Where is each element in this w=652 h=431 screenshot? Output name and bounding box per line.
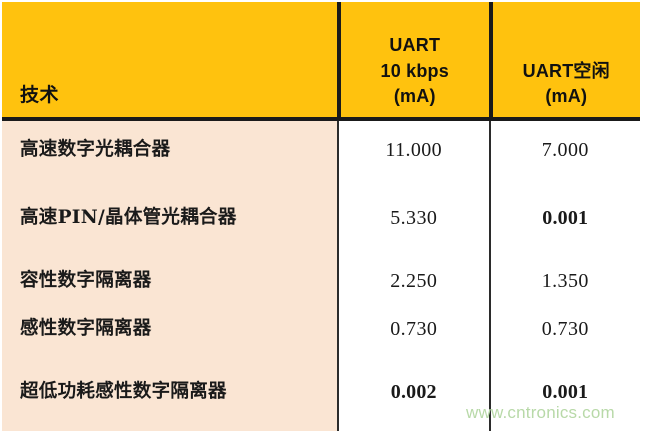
table-row: 高速PIN/晶体管光耦合器 — [2, 179, 337, 257]
cell-uart-idle: 7.000 — [491, 121, 641, 179]
header-label-technology: 技术 — [20, 85, 59, 107]
screenshot-canvas: 技术 UART 10 kbps (mA) UART空闲 (mA) 高速数字 — [0, 0, 652, 431]
cell-uart-idle: 0.001 — [491, 353, 641, 431]
column-technology: 高速数字光耦合器 高速PIN/晶体管光耦合器 容性数字隔离器 感性数字隔离器 超… — [2, 121, 337, 431]
table-row: 超低功耗感性数字隔离器 — [2, 353, 337, 431]
header-uart-10kbps-line3: (mA) — [394, 86, 436, 106]
table-row: 高速数字光耦合器 — [2, 121, 337, 179]
header-uart-idle-line1: UART空闲 — [523, 61, 610, 81]
header-cell-uart-idle: UART空闲 (mA) — [489, 2, 641, 117]
cell-uart-idle: 0.001 — [491, 179, 641, 257]
header-cell-uart-10kbps: UART 10 kbps (mA) — [337, 2, 489, 117]
table-row: 容性数字隔离器 — [2, 257, 337, 305]
header-uart-10kbps-line1: UART — [389, 35, 440, 55]
cell-uart-10kbps: 5.330 — [339, 179, 489, 257]
table-body: 高速数字光耦合器 高速PIN/晶体管光耦合器 容性数字隔离器 感性数字隔离器 超… — [2, 121, 640, 431]
header-label-uart-idle: UART空闲 (mA) — [523, 59, 610, 110]
header-label-uart-10kbps: UART 10 kbps (mA) — [381, 33, 449, 110]
cell-uart-10kbps: 0.730 — [339, 305, 489, 353]
cell-uart-10kbps: 2.250 — [339, 257, 489, 305]
table-header-row: 技术 UART 10 kbps (mA) UART空闲 (mA) — [2, 2, 640, 121]
header-uart-idle-line2: (mA) — [545, 86, 587, 106]
cell-uart-10kbps: 11.000 — [339, 121, 489, 179]
header-cell-technology: 技术 — [2, 2, 337, 117]
cell-uart-10kbps: 0.002 — [339, 353, 489, 431]
comparison-table: 技术 UART 10 kbps (mA) UART空闲 (mA) 高速数字 — [2, 2, 640, 431]
cell-uart-idle: 0.730 — [491, 305, 641, 353]
header-uart-10kbps-line2: 10 kbps — [381, 61, 449, 81]
column-uart-10kbps: 11.000 5.330 2.250 0.730 0.002 — [337, 121, 489, 431]
cell-uart-idle: 1.350 — [491, 257, 641, 305]
table-row: 感性数字隔离器 — [2, 305, 337, 353]
column-uart-idle: 7.000 0.001 1.350 0.730 0.001 — [489, 121, 641, 431]
